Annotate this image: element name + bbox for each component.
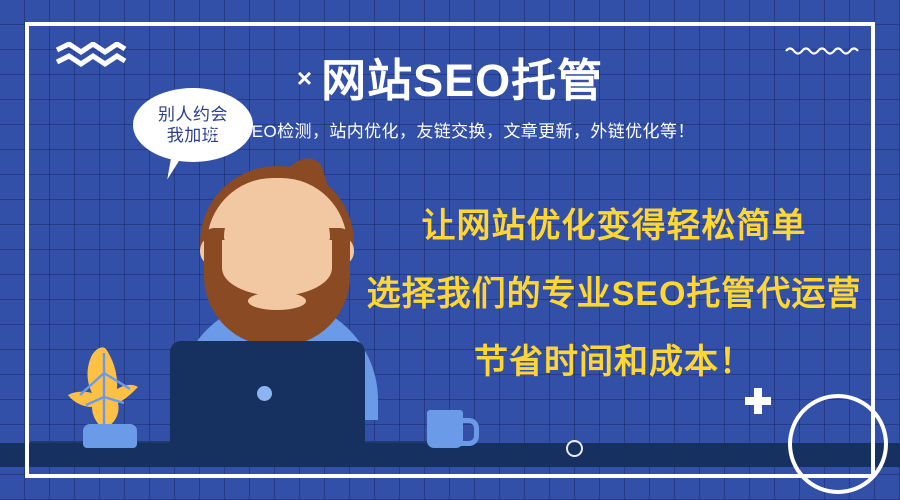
page-title-text: 网站SEO托管 — [321, 55, 603, 106]
circle-outline-icon — [566, 440, 583, 457]
cross-marker-icon: × — [297, 63, 313, 93]
corner-circle-icon — [788, 394, 888, 494]
subtitle: 含：SEO检测，站内优化，友链交换，文章更新，外链优化等！ — [0, 117, 900, 142]
headline-line-3: 节省时间和成本！ — [345, 334, 883, 383]
headline-line-2: 选择我们的专业SEO托管代运营 — [345, 266, 883, 315]
headline-line-1: 让网站优化变得轻松简单 — [345, 198, 883, 247]
person-forehead — [224, 198, 330, 246]
plant-leaf-icon — [62, 345, 142, 436]
coffee-mug — [427, 410, 463, 448]
page-title: ×网站SEO托管 — [0, 44, 900, 109]
plus-icon — [745, 388, 771, 414]
plant-pot — [83, 424, 137, 448]
person-mouth — [248, 292, 306, 310]
person-face-lower — [222, 240, 332, 296]
laptop-logo-icon — [257, 386, 272, 401]
seo-hosting-banner: 别人约会 我加班 ×网站SEO托管 含：SEO检测，站内优化，友链交换，文章更新… — [0, 0, 900, 500]
